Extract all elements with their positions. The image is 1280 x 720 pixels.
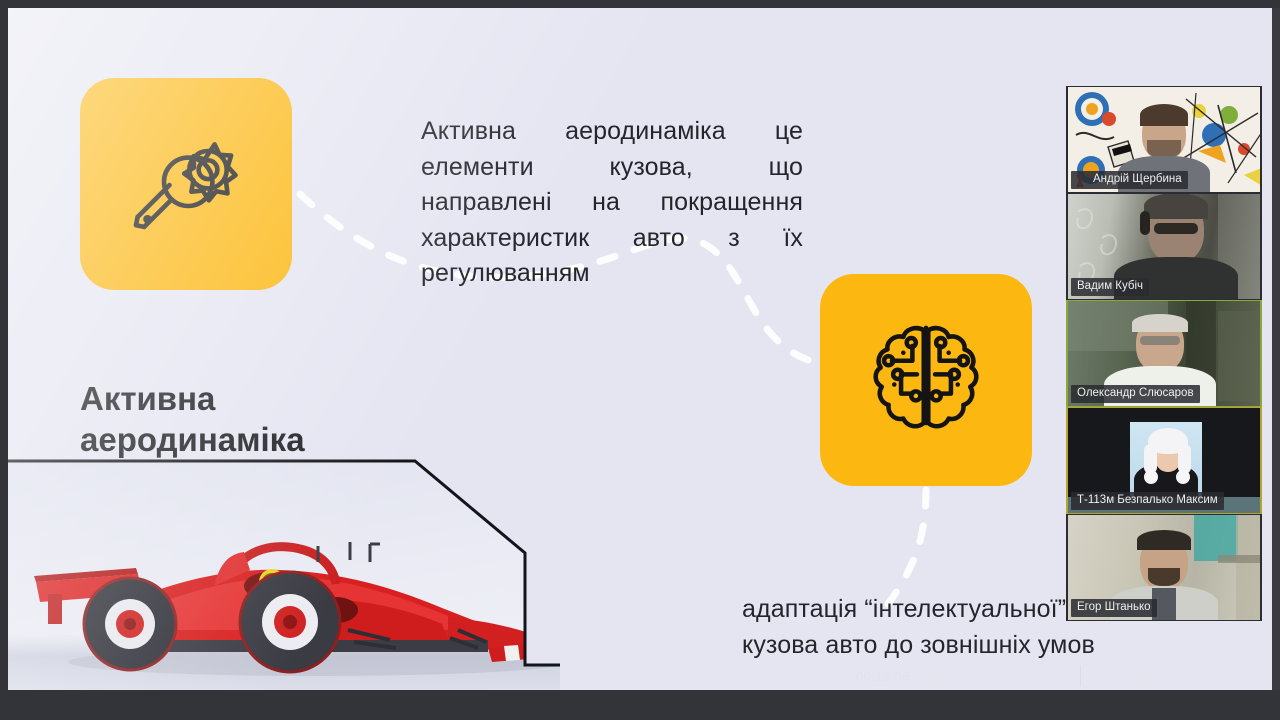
- participant-rail: Андрій Щербина: [1066, 86, 1262, 621]
- microphone-icon[interactable]: [962, 663, 988, 689]
- participant-tile[interactable]: Вадим Кубіч: [1066, 193, 1262, 300]
- participant-tile[interactable]: Андрій Щербина: [1066, 86, 1262, 193]
- slide-paragraph-bottom-line-1: адаптація “інтелектуальної”: [742, 592, 1102, 628]
- toolbar-group-recording: 00:16:36: [856, 663, 950, 689]
- toolbar-group-tools: [1092, 663, 1158, 689]
- participant-name: Олександр Слюсаров: [1071, 385, 1200, 403]
- participant-name: Егор Штанько: [1071, 599, 1157, 617]
- window-edge-strip: [1272, 8, 1280, 690]
- formula-car-illustration: [18, 490, 598, 680]
- icon-card-tool[interactable]: [80, 78, 292, 290]
- record-stop-icon[interactable]: [924, 663, 950, 689]
- toolbar-group-audio: [962, 663, 1068, 689]
- participant-name: Андрій Щербина: [1071, 171, 1188, 189]
- presentation-slide: Активна аеродинаміка це елементи кузова,…: [8, 8, 1280, 690]
- speaker-icon[interactable]: [1002, 663, 1028, 689]
- participant-name: Т-113м Безпалько Максим: [1071, 492, 1224, 510]
- recording-timer: 00:16:36: [856, 669, 910, 684]
- meeting-toolbar: 00:16:36: [856, 656, 1276, 690]
- slide-title-line-2: аеродинаміка: [80, 419, 500, 460]
- minimize-icon[interactable]: [1210, 663, 1236, 689]
- participant-tile[interactable]: Олександр Слюсаров: [1066, 300, 1262, 407]
- slide-title-line-1: Активна: [80, 378, 500, 419]
- slide-paragraph-top: Активна аеродинаміка це елементи кузова,…: [421, 114, 803, 292]
- toolbar-group-window: [1170, 663, 1276, 689]
- gear-icon[interactable]: [1042, 663, 1068, 689]
- participant-tile[interactable]: Т-113м Безпалько Максим: [1066, 407, 1262, 514]
- icon-card-brain[interactable]: [820, 274, 1032, 486]
- participant-tile[interactable]: Егор Штанько: [1066, 514, 1262, 621]
- avatar: [1130, 422, 1202, 500]
- slide-paragraph-bottom: адаптація “інтелектуальної” кузова авто …: [742, 592, 1102, 663]
- ai-brain-icon: [858, 312, 994, 448]
- wrench-gear-icon: [120, 118, 252, 250]
- slide-title: Активна аеродинаміка: [80, 378, 500, 461]
- pause-icon[interactable]: [1170, 663, 1196, 689]
- formula-car-photo: [8, 457, 625, 690]
- pencil-icon[interactable]: [1092, 663, 1118, 689]
- toolbar-divider: [1080, 665, 1081, 687]
- participant-name: Вадим Кубіч: [1071, 278, 1149, 296]
- camera-icon[interactable]: [1132, 663, 1158, 689]
- screen-share-window: Активна аеродинаміка це елементи кузова,…: [0, 0, 1280, 720]
